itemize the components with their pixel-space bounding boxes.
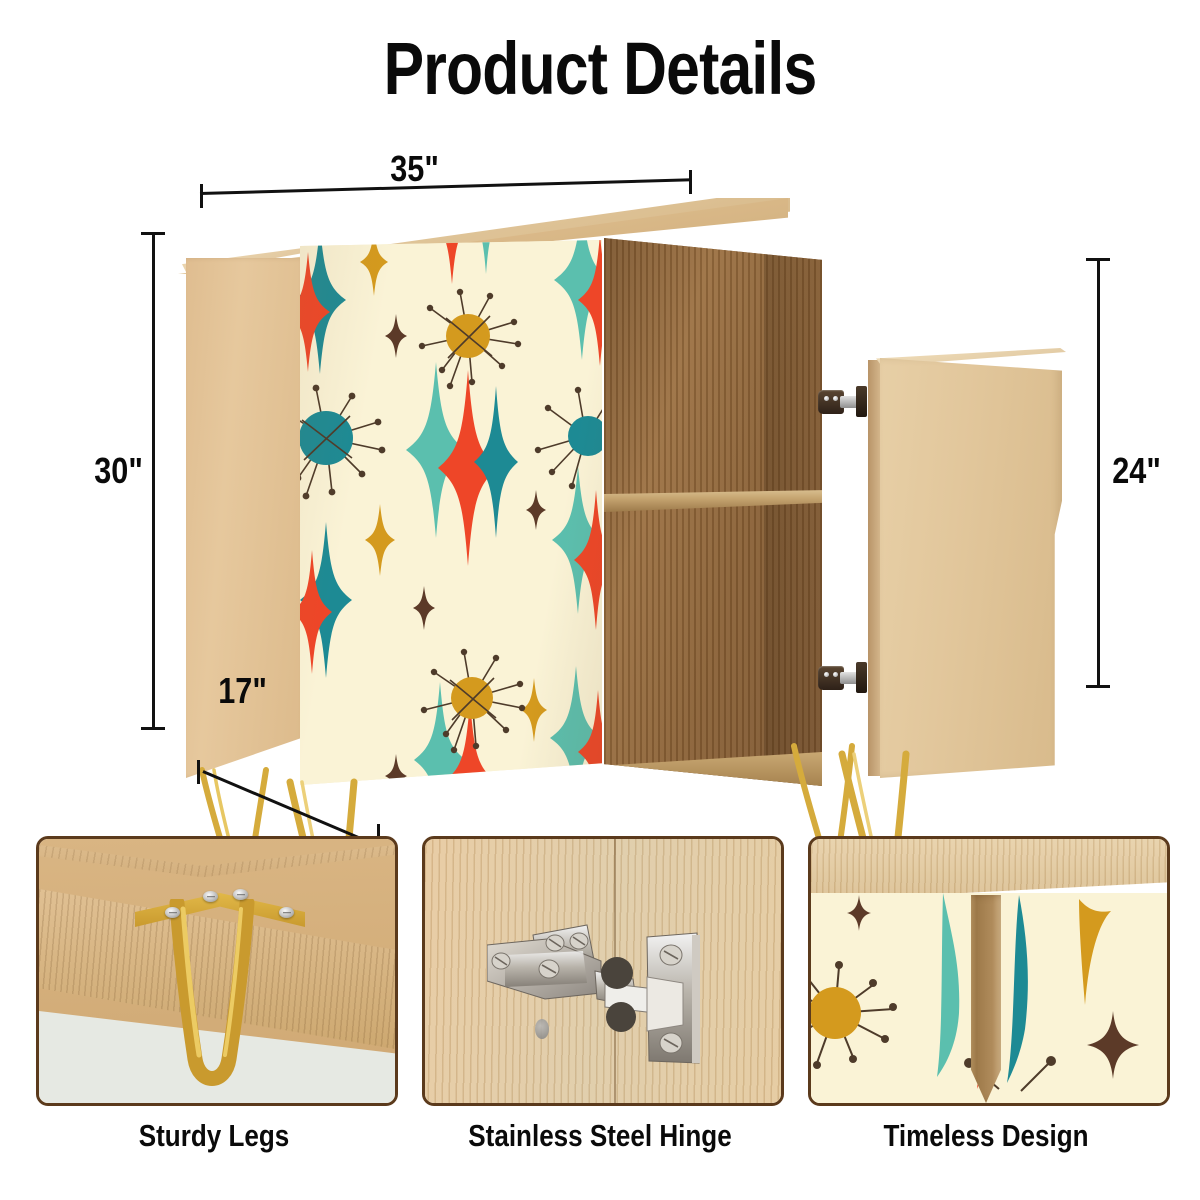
feature-caption-steel-hinge: Stainless Steel Hinge — [450, 1118, 749, 1154]
dimension-cap-body-bottom — [1086, 685, 1110, 688]
product-details-infographic: Product Details — [0, 0, 1200, 1200]
dimension-label-height: 30" — [94, 450, 143, 492]
panel1-hairpin-leg — [159, 899, 279, 1099]
interior-right-wall — [764, 238, 822, 786]
feature-caption-sturdy-legs: Sturdy Legs — [64, 1118, 363, 1154]
dimension-cap-width-right — [689, 170, 692, 194]
panel2-concealed-hinge — [487, 921, 727, 1081]
panel1-screw-2 — [233, 889, 248, 900]
dimension-cap-height-bottom — [141, 727, 165, 730]
feature-panels: Sturdy Legs Stainless Steel Hinge Timele… — [0, 836, 1200, 1116]
dimension-cap-body-top — [1086, 258, 1110, 261]
cabinet-hinge-top — [818, 384, 870, 418]
dimension-cap-width-left — [200, 184, 203, 208]
hero-diagram: 35" 30" 24" 17" — [0, 120, 1200, 820]
panel3-door-gap — [969, 895, 1003, 1103]
dimension-label-body-height: 24" — [1112, 450, 1161, 492]
dimension-line-height — [152, 232, 155, 730]
dimension-line-body-height — [1097, 258, 1100, 688]
cabinet-illustration — [0, 120, 1200, 820]
dimension-line-depth — [193, 758, 393, 843]
dimension-label-width: 35" — [390, 148, 439, 190]
panel1-screw-3 — [165, 907, 180, 918]
panel1-screw-1 — [203, 891, 218, 902]
feature-panel-steel-hinge[interactable] — [422, 836, 784, 1106]
patterned-front-door — [300, 240, 602, 785]
dimension-cap-height-top — [141, 232, 165, 235]
panel1-screw-4 — [279, 907, 294, 918]
page-title: Product Details — [108, 26, 1092, 111]
cabinet-hinge-bottom — [818, 660, 870, 694]
feature-panel-timeless-design[interactable] — [808, 836, 1170, 1106]
cabinet-interior — [604, 238, 822, 786]
open-right-door — [880, 358, 1062, 778]
panel3-top-wood-edge — [811, 839, 1167, 901]
feature-panel-sturdy-legs[interactable] — [36, 836, 398, 1106]
dimension-label-depth: 17" — [218, 670, 267, 712]
feature-caption-timeless-design: Timeless Design — [836, 1118, 1135, 1154]
